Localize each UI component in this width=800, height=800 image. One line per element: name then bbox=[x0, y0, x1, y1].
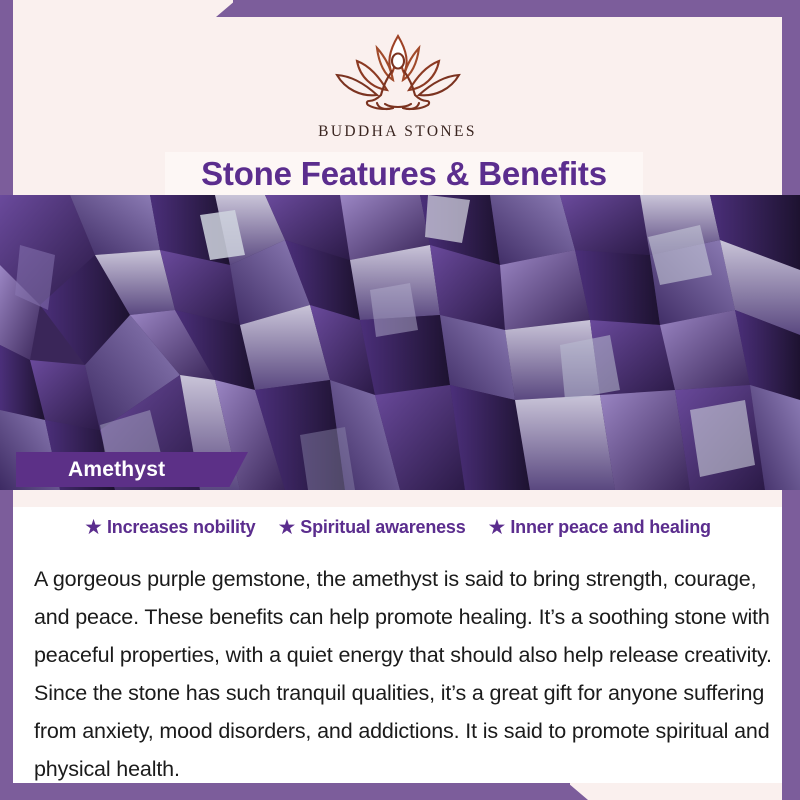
amethyst-photo bbox=[0, 195, 800, 490]
frame-band-top-notch bbox=[216, 0, 236, 17]
brand-name: BUDDHA STONES bbox=[318, 123, 477, 141]
brand-logo: BUDDHA STONES bbox=[13, 31, 782, 141]
benefits-row: ★ Increases nobility ★ Spiritual awarene… bbox=[13, 517, 782, 538]
amethyst-crystal-illustration bbox=[0, 195, 800, 490]
star-icon: ★ bbox=[277, 517, 296, 538]
benefit-item: ★ Inner peace and healing bbox=[488, 517, 711, 538]
benefit-item: ★ Increases nobility bbox=[84, 517, 255, 538]
header: BUDDHA STONES Stone Features & Benefits bbox=[13, 17, 782, 195]
title-banner: Stone Features & Benefits bbox=[165, 152, 643, 195]
content-top-strip bbox=[13, 490, 782, 507]
lotus-meditation-icon bbox=[323, 31, 473, 119]
star-icon: ★ bbox=[84, 517, 103, 538]
star-icon: ★ bbox=[488, 517, 507, 538]
frame-band-top bbox=[233, 0, 800, 17]
benefit-label: Increases nobility bbox=[107, 517, 255, 538]
infographic-page: BUDDHA STONES Stone Features & Benefits bbox=[0, 0, 800, 800]
benefit-label: Inner peace and healing bbox=[510, 517, 710, 538]
page-title: Stone Features & Benefits bbox=[201, 155, 607, 193]
stone-description: A gorgeous purple gemstone, the amethyst… bbox=[34, 560, 776, 788]
benefit-item: ★ Spiritual awareness bbox=[277, 517, 465, 538]
benefit-label: Spiritual awareness bbox=[300, 517, 465, 538]
stone-name-text: Amethyst bbox=[68, 458, 165, 482]
stone-name-badge: Amethyst bbox=[16, 452, 248, 487]
